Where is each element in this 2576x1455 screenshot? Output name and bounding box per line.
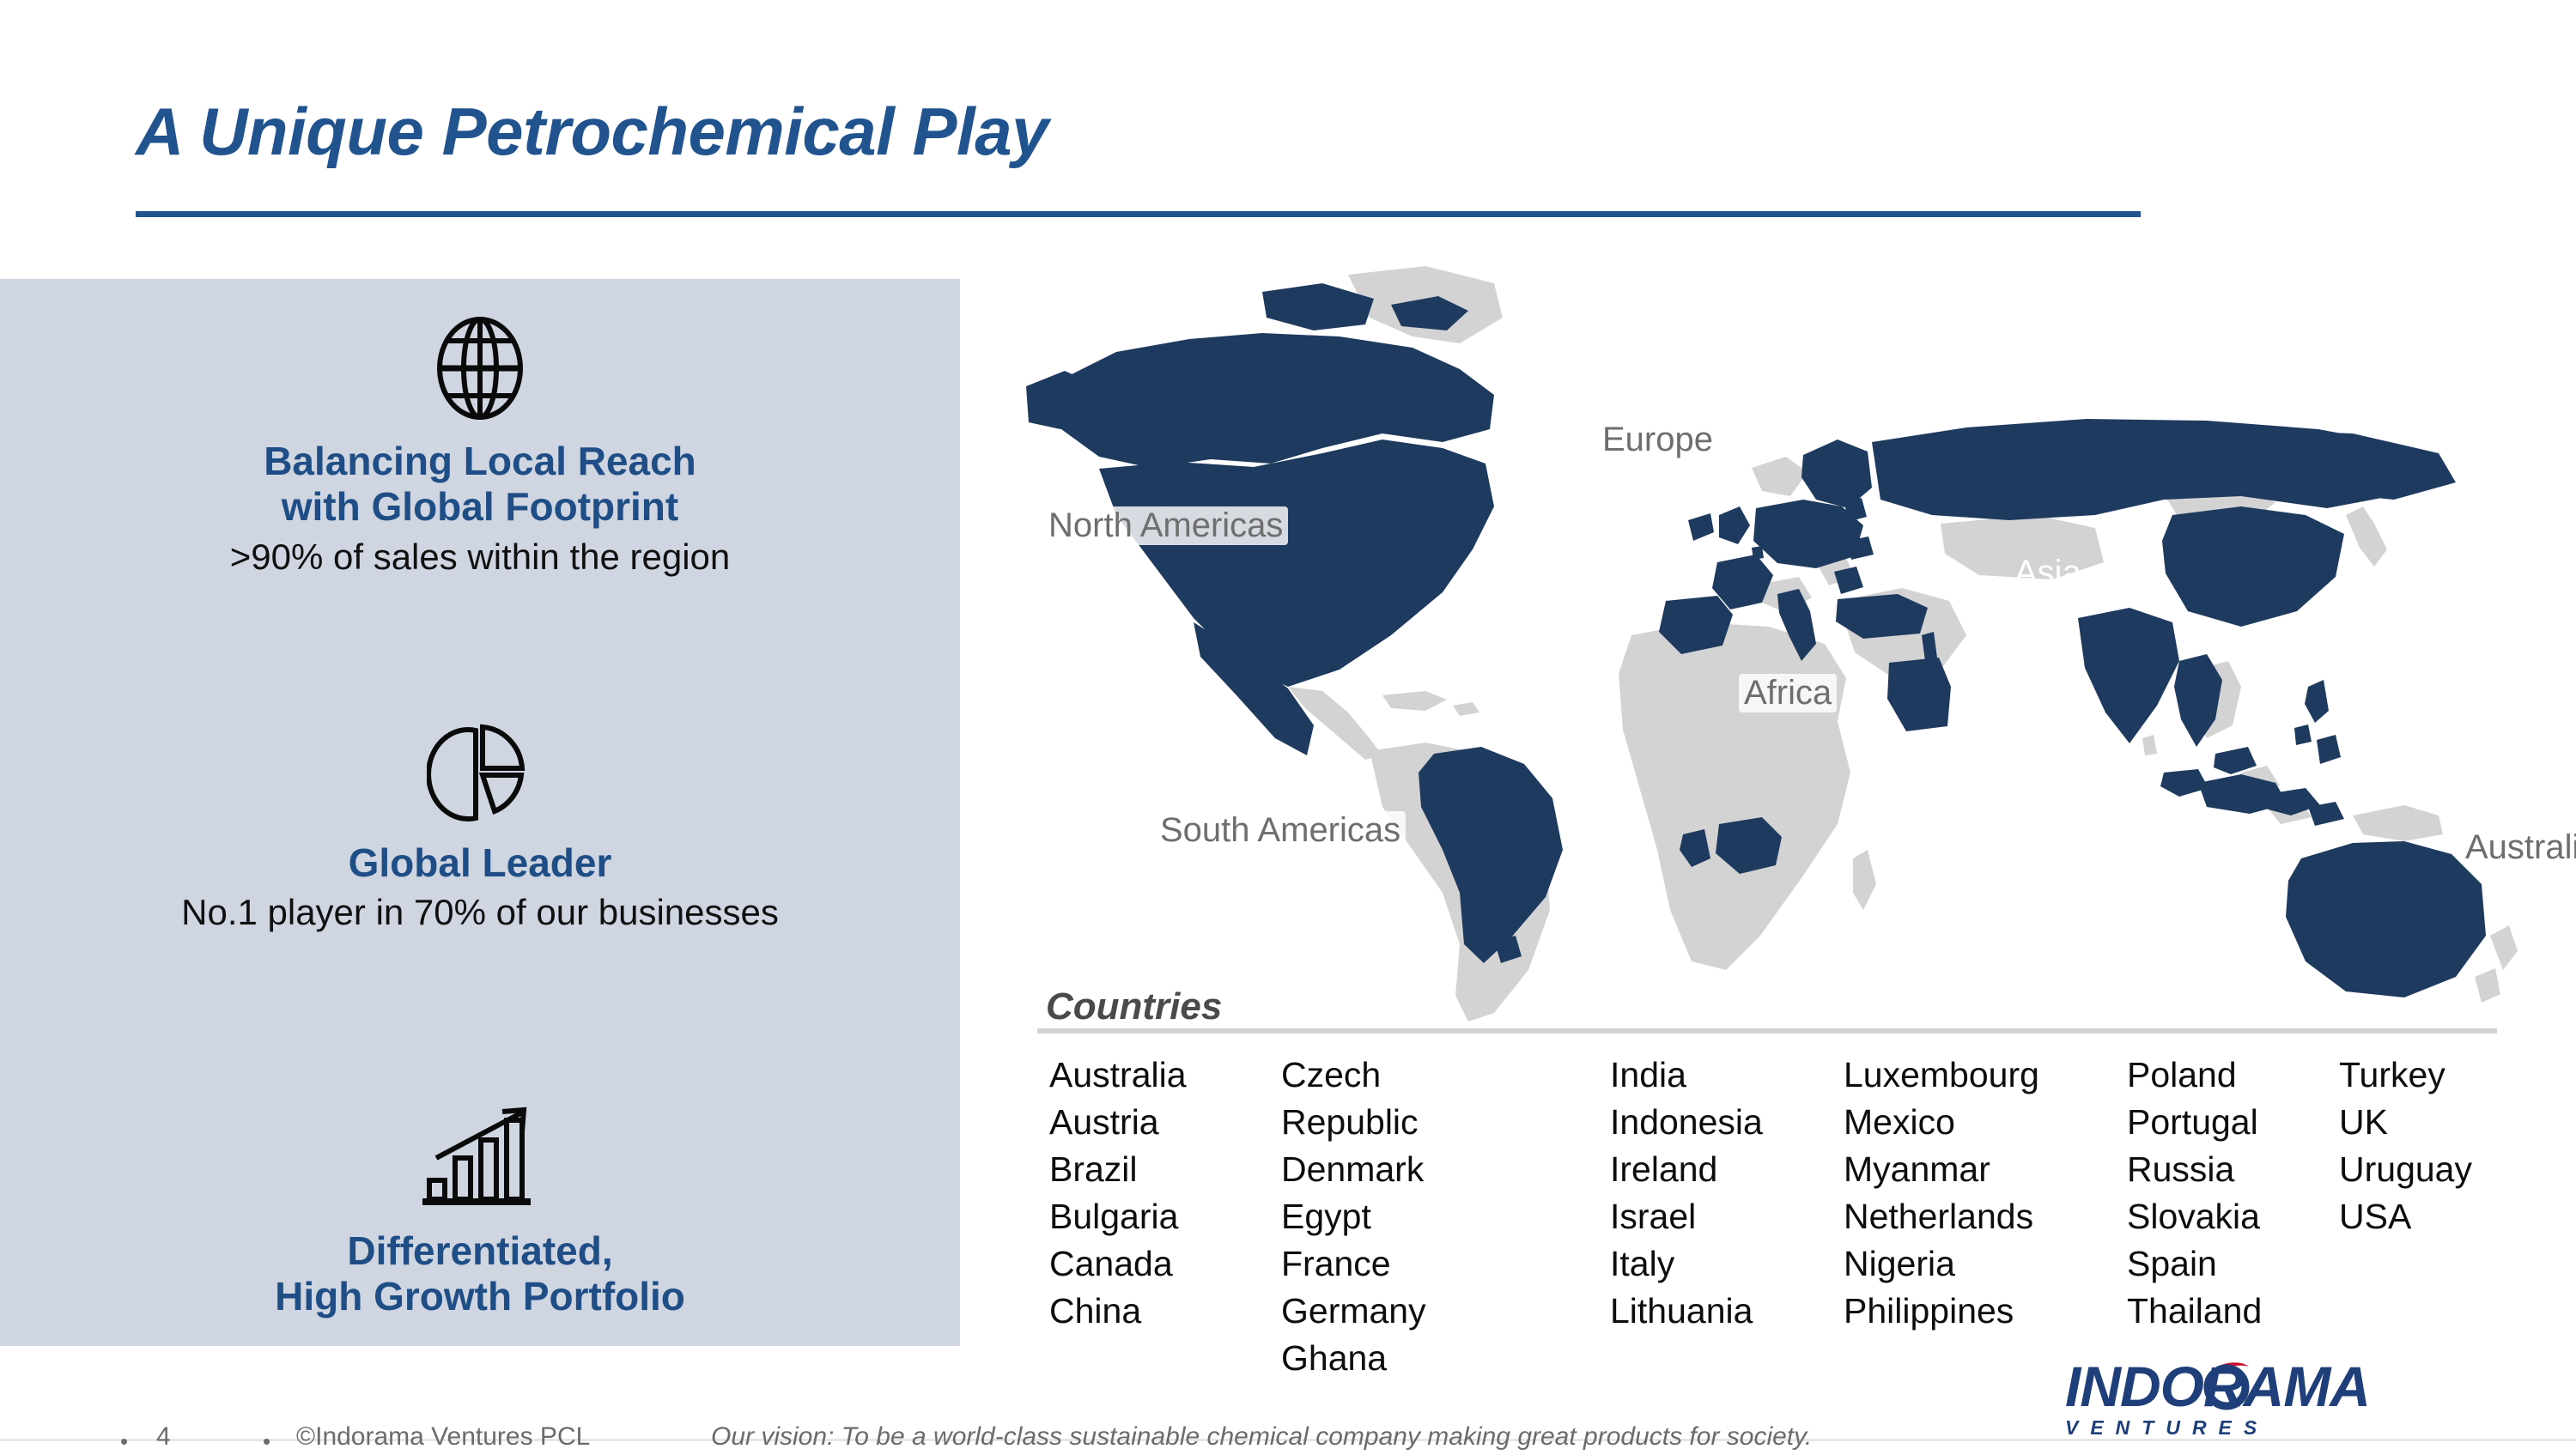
country-item: Nigeria — [1844, 1240, 2127, 1288]
feature-differentiated-growth: Differentiated, High Growth Portfolio — [0, 1103, 960, 1320]
footer-page-number: 4 — [156, 1422, 171, 1452]
country-item: Ireland — [1610, 1146, 1844, 1193]
country-item: Netherlands — [1844, 1193, 2127, 1240]
map-label-south-americas: South Americas — [1155, 811, 1406, 850]
country-item: Brazil — [1049, 1146, 1281, 1193]
country-item: China — [1049, 1288, 1281, 1335]
map-label-asia: Asia — [2009, 554, 2087, 592]
country-item: Bulgaria — [1049, 1193, 1281, 1240]
feature-title-line1: Differentiated, — [0, 1228, 960, 1274]
feature-title-line2: High Growth Portfolio — [0, 1274, 960, 1319]
country-item: Poland — [2127, 1052, 2281, 1099]
countries-column-6: Turkey UK Uruguay USA — [2339, 1052, 2528, 1382]
countries-column-3: India Indonesia Ireland Israel Italy Lit… — [1610, 1052, 1844, 1382]
logo-tagline: VENTURES — [2065, 1416, 2486, 1440]
footer-vision-statement: Our vision: To be a world-class sustaina… — [711, 1422, 1812, 1452]
country-item: UK — [2339, 1099, 2528, 1146]
countries-column-1: Australia Austria Brazil Bulgaria Canada… — [1049, 1052, 1281, 1382]
feature-subtitle: >90% of sales within the region — [0, 536, 960, 579]
country-item: Egypt — [1281, 1193, 1436, 1240]
country-item: Russia — [2127, 1146, 2281, 1193]
feature-subtitle: No.1 player in 70% of our businesses — [0, 891, 960, 934]
indorama-ventures-logo: INDORAMA VENTURES — [2065, 1358, 2486, 1440]
map-label-africa: Africa — [1739, 674, 1837, 712]
country-item: Germany — [1281, 1288, 1436, 1335]
logo-wordmark: INDORAMA — [2065, 1358, 2486, 1415]
country-item: Canada — [1049, 1240, 1281, 1288]
country-item: Spain — [2127, 1240, 2281, 1288]
logo-swirl-icon — [2194, 1355, 2259, 1420]
world-map-container: North Americas Europe Asia Africa South … — [979, 258, 2576, 1030]
countries-grid: Australia Austria Brazil Bulgaria Canada… — [1049, 1052, 2561, 1382]
footer-bullet-icon: • — [120, 1428, 128, 1455]
country-item: Denmark — [1281, 1146, 1436, 1193]
country-item: Italy — [1610, 1240, 1844, 1288]
country-item: Uruguay — [2339, 1146, 2528, 1193]
country-item: Turkey — [2339, 1052, 2528, 1099]
feature-title-line1: Balancing Local Reach — [0, 439, 960, 484]
country-item: Slovakia — [2127, 1193, 2281, 1240]
highlights-panel: Balancing Local Reach with Global Footpr… — [0, 279, 960, 1346]
country-item: Portugal — [2127, 1099, 2281, 1146]
feature-title-line1: Global Leader — [0, 840, 960, 886]
country-item: Philippines — [1844, 1288, 2127, 1335]
country-item: India — [1610, 1052, 1844, 1099]
country-item: Ghana — [1281, 1335, 1436, 1382]
country-item: Czech Republic — [1281, 1052, 1436, 1146]
page-title: A Unique Petrochemical Play — [136, 93, 1048, 171]
world-map — [979, 258, 2576, 1030]
growth-bar-chart-icon — [0, 1103, 960, 1213]
country-item: France — [1281, 1240, 1436, 1288]
country-item: Austria — [1049, 1099, 1281, 1146]
country-item: Thailand — [2127, 1288, 2281, 1335]
country-item: USA — [2339, 1193, 2528, 1240]
countries-heading: Countries — [1046, 985, 1222, 1028]
country-item: Australia — [1049, 1052, 1281, 1099]
countries-column-5: Poland Portugal Russia Slovakia Spain Th… — [2127, 1052, 2339, 1382]
footer-copyright: ©Indorama Ventures PCL — [296, 1422, 590, 1452]
country-item: Israel — [1610, 1193, 1844, 1240]
map-label-europe: Europe — [1597, 421, 1718, 459]
country-item: Lithuania — [1610, 1288, 1844, 1335]
country-item: Mexico — [1844, 1099, 2127, 1146]
feature-global-leader: Global Leader No.1 player in 70% of our … — [0, 715, 960, 935]
country-item: Indonesia — [1610, 1099, 1844, 1146]
country-item: Luxembourg — [1844, 1052, 2127, 1099]
countries-column-4: Luxembourg Mexico Myanmar Netherlands Ni… — [1844, 1052, 2127, 1382]
map-label-north-americas: North Americas — [1043, 506, 1288, 545]
feature-balancing-local-reach: Balancing Local Reach with Global Footpr… — [0, 313, 960, 579]
countries-divider — [1037, 1028, 2497, 1034]
footer-bullet-icon: • — [263, 1428, 270, 1455]
map-label-australia: Australia — [2460, 828, 2576, 867]
country-item: Myanmar — [1844, 1146, 2127, 1193]
pie-chart-icon — [0, 715, 960, 825]
title-divider — [136, 211, 2141, 217]
feature-title-line2: with Global Footprint — [0, 484, 960, 530]
countries-column-2: Czech Republic Denmark Egypt France Germ… — [1281, 1052, 1610, 1382]
globe-icon — [0, 313, 960, 423]
